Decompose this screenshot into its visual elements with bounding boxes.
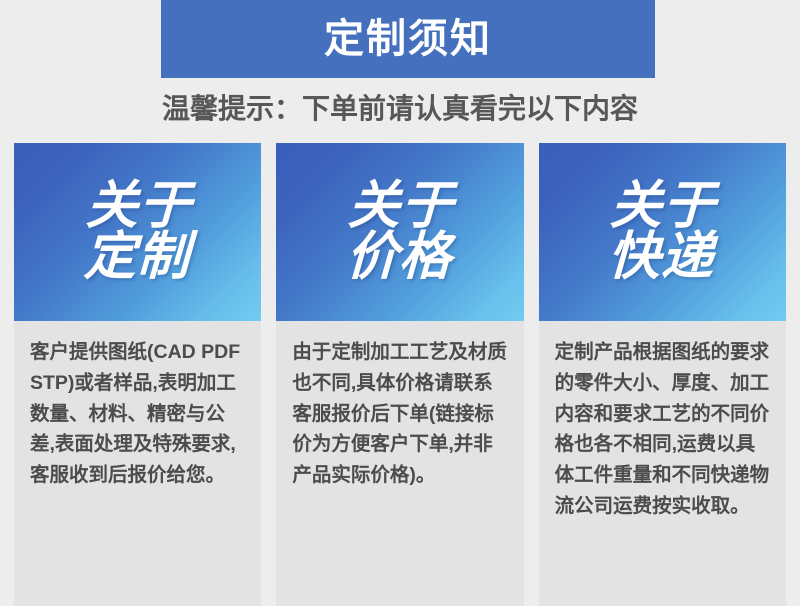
custom-notice-page: 定制须知 温馨提示：下单前请认真看完以下内容 关于 定制 客户提供图纸(CAD … — [0, 0, 800, 606]
card-body-shipping: 定制产品根据图纸的要求的零件大小、厚度、加工内容和要求工艺的不同价格也各不相同,… — [539, 321, 786, 606]
card-header-line2: 定制 — [83, 232, 191, 283]
card-header-line2: 价格 — [345, 232, 453, 283]
subtitle-tip: 温馨提示：下单前请认真看完以下内容 — [0, 92, 800, 126]
card-header-title-shipping: 关于 快递 — [608, 181, 718, 283]
page-title-banner: 定制须知 — [161, 0, 655, 78]
card-header-title-customization: 关于 定制 — [83, 181, 193, 283]
card-header-title-price: 关于 价格 — [345, 181, 455, 283]
notice-card-price: 关于 价格 由于定制加工工艺及材质也不同,具体价格请联系客服报价后下单(链接标价… — [276, 143, 523, 606]
notice-card-shipping: 关于 快递 定制产品根据图纸的要求的零件大小、厚度、加工内容和要求工艺的不同价格… — [539, 143, 786, 606]
card-header-customization: 关于 定制 — [14, 143, 261, 321]
card-header-line1: 关于 — [609, 177, 717, 235]
page-title: 定制须知 — [324, 19, 492, 59]
card-header-shipping: 关于 快递 — [539, 143, 786, 321]
card-body-customization: 客户提供图纸(CAD PDF STP)或者样品,表明加工数量、材料、精密与公差,… — [14, 321, 261, 606]
card-header-line2: 快递 — [608, 232, 716, 283]
card-header-line1: 关于 — [85, 177, 193, 235]
card-header-price: 关于 价格 — [276, 143, 523, 321]
notice-card-list: 关于 定制 客户提供图纸(CAD PDF STP)或者样品,表明加工数量、材料、… — [14, 143, 786, 606]
card-header-line1: 关于 — [347, 177, 455, 235]
notice-card-customization: 关于 定制 客户提供图纸(CAD PDF STP)或者样品,表明加工数量、材料、… — [14, 143, 261, 606]
card-body-price: 由于定制加工工艺及材质也不同,具体价格请联系客服报价后下单(链接标价为方便客户下… — [276, 321, 523, 606]
